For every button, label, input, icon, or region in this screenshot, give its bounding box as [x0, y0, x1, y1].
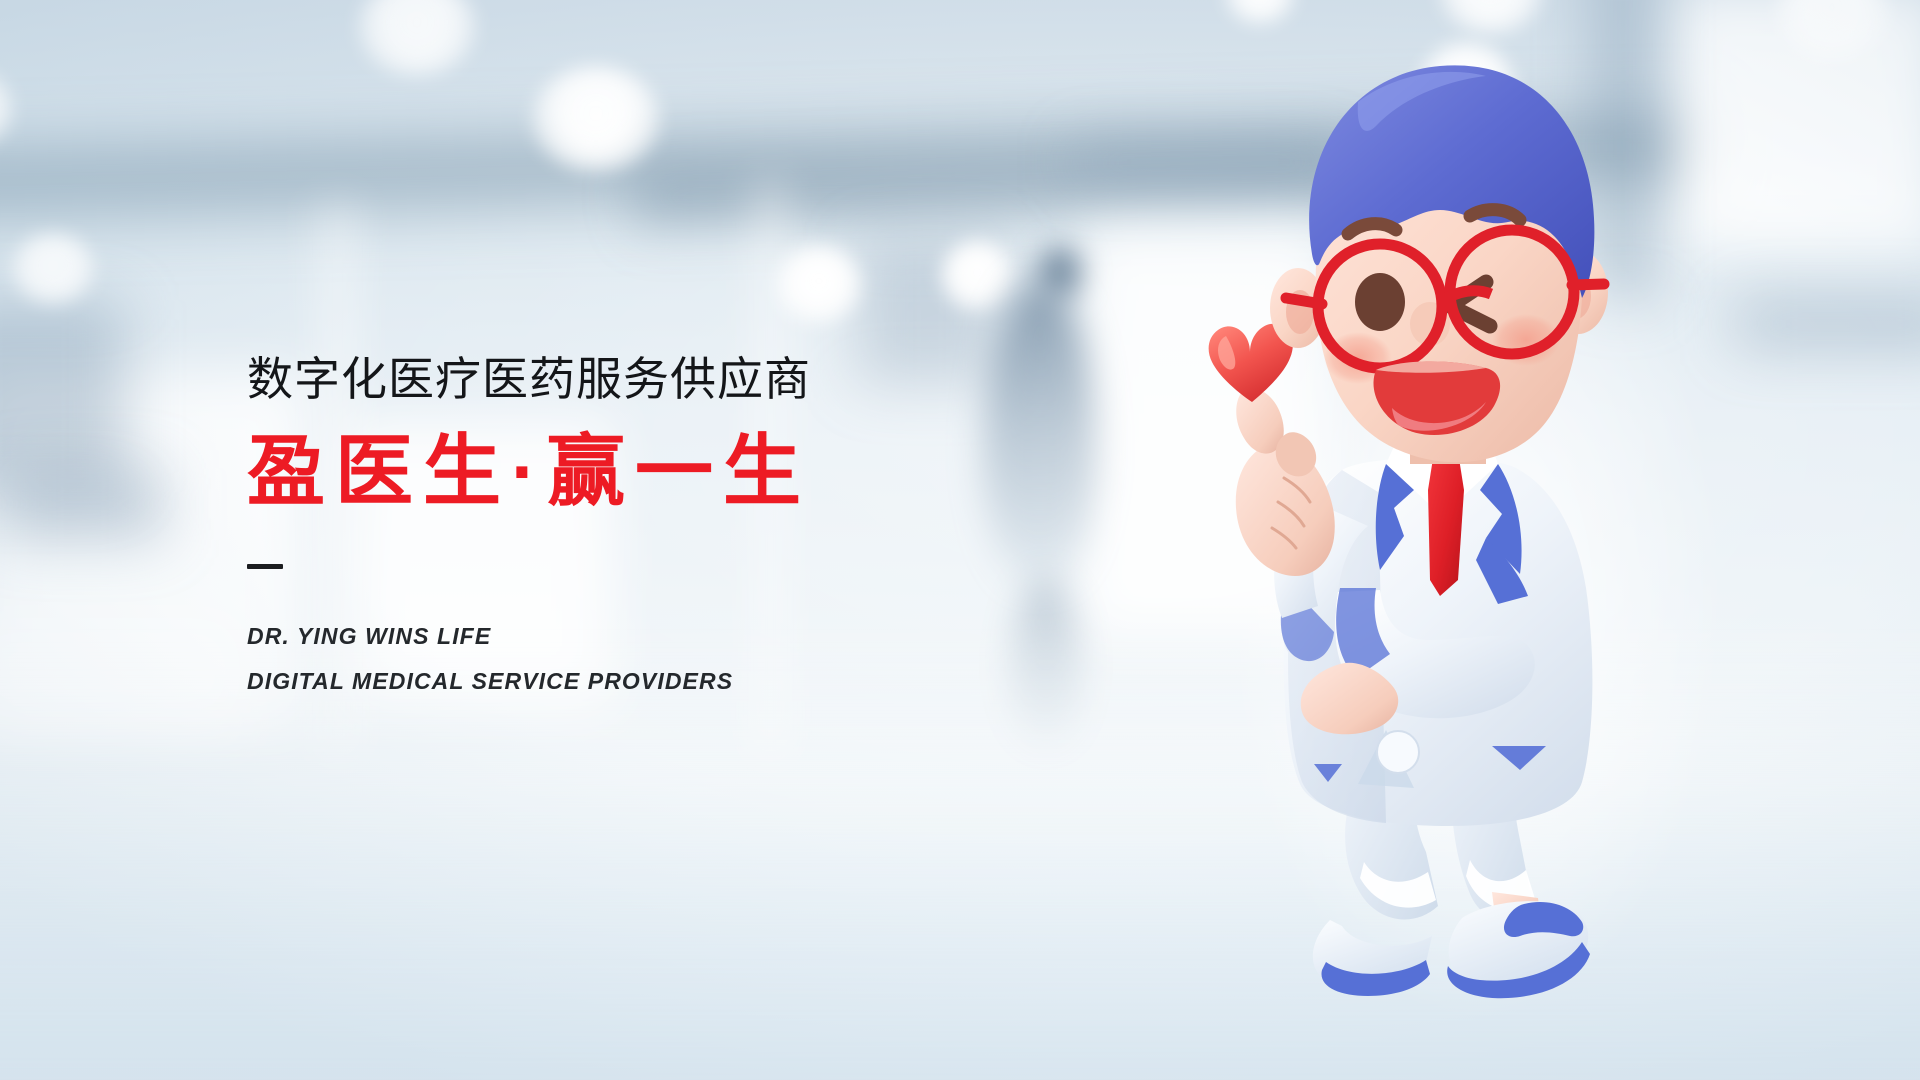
- hero-copy-block: 数字化医疗医药服务供应商 盈医生·赢一生 DR. YING WINS LIFE …: [247, 355, 967, 695]
- divider-rule: [247, 564, 283, 569]
- coat-button: [1377, 731, 1419, 773]
- glasses-arm-right: [1572, 284, 1604, 285]
- main-slogan: 盈医生·赢一生: [247, 430, 967, 513]
- glasses-arm-left: [1286, 298, 1322, 304]
- english-subtitle-line-1: DR. YING WINS LIFE: [247, 623, 967, 650]
- eyebrow-headline: 数字化医疗医药服务供应商: [247, 355, 967, 404]
- hero-banner: 数字化医疗医药服务供应商 盈医生·赢一生 DR. YING WINS LIFE …: [0, 0, 1920, 1080]
- english-subtitle-line-2: DIGITAL MEDICAL SERVICE PROVIDERS: [247, 668, 967, 695]
- left-eye-open: [1355, 273, 1405, 331]
- doctor-mascot: [1190, 40, 1750, 1050]
- english-subtitle-group: DR. YING WINS LIFE DIGITAL MEDICAL SERVI…: [247, 623, 967, 694]
